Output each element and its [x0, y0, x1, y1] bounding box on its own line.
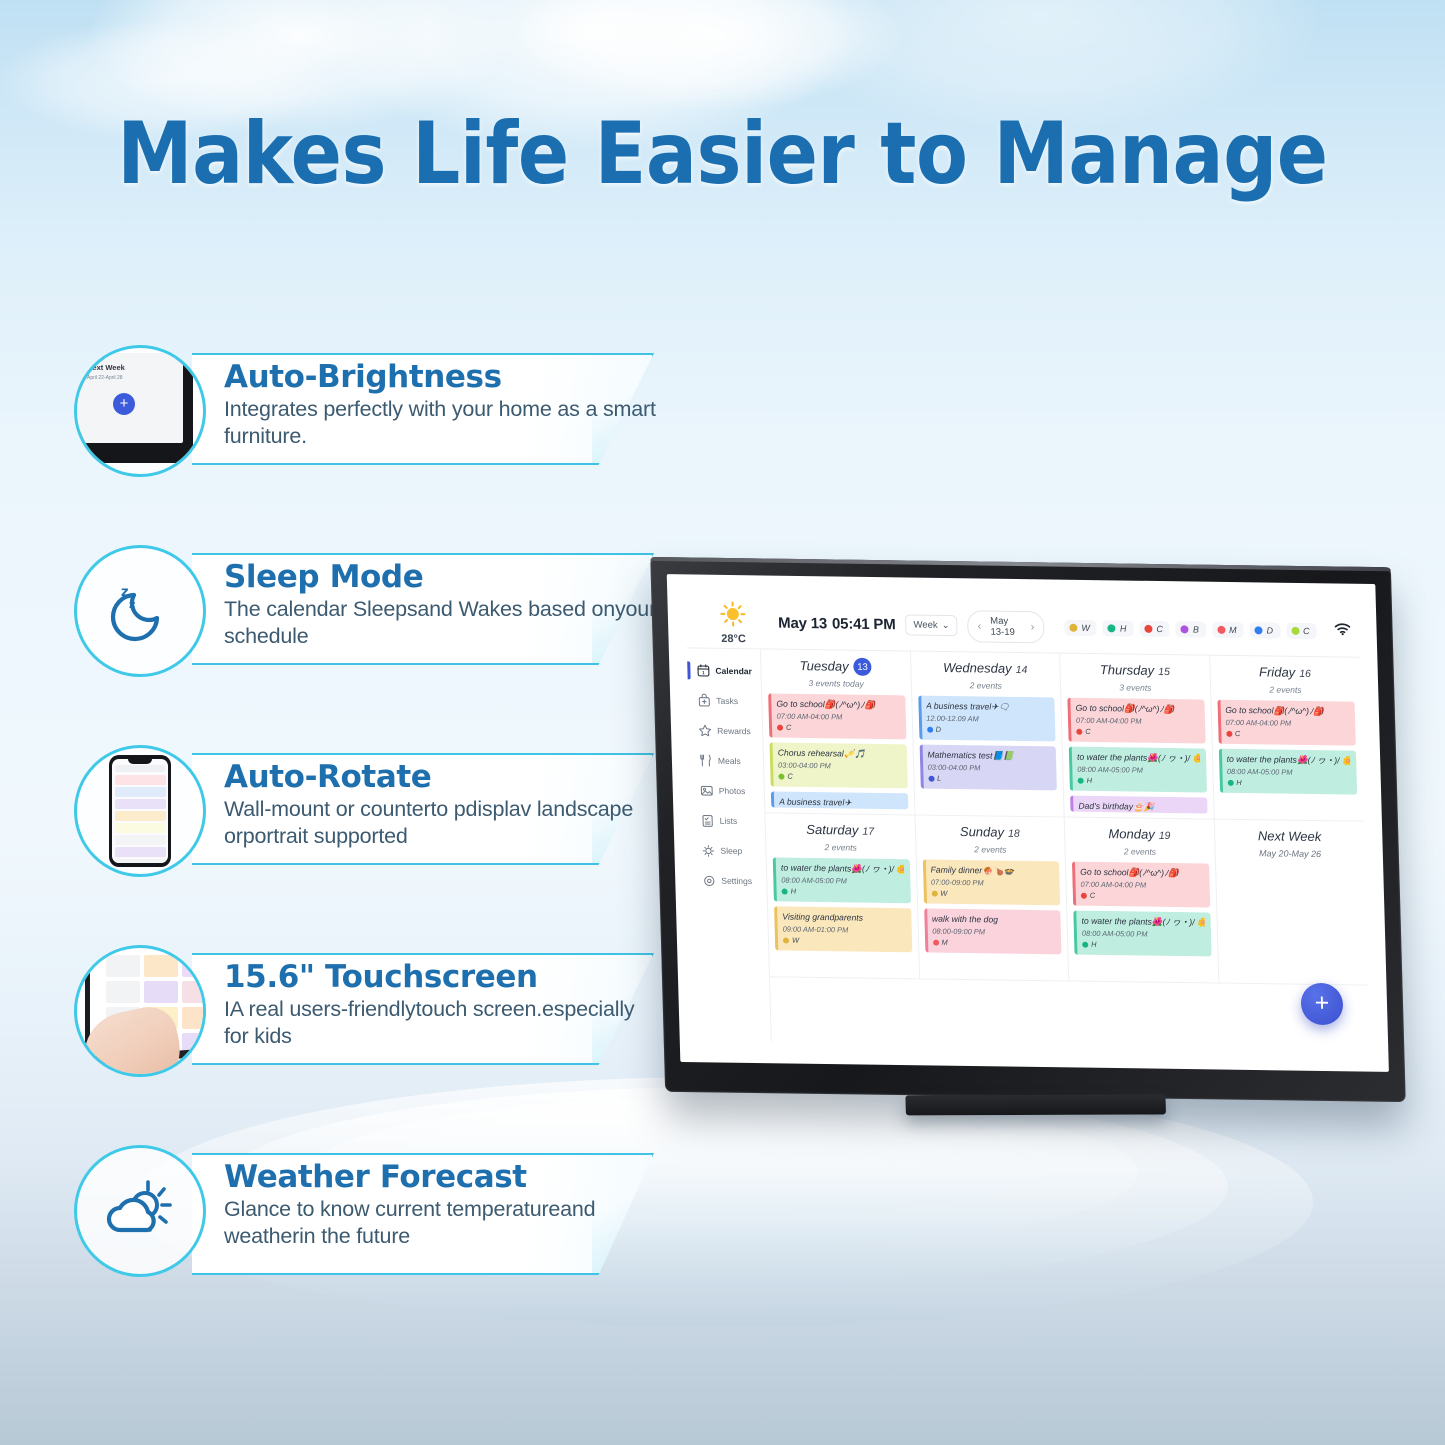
sleep-sun-icon — [701, 843, 715, 857]
calendar-event[interactable]: Go to school🎒(ﾉ^ω^)ﾉ🎒07:00 AM-04:00 PMC — [768, 694, 906, 740]
event-time: 08:00 AM-05:00 PM — [1077, 765, 1200, 776]
feature-auto-rotate: Auto-Rotate Wall-mount or counterto pdis… — [74, 745, 654, 877]
calendar-event[interactable]: Family dinner🍖🍗🍲07:00-09:00 PMW — [922, 860, 1060, 906]
feature-title: Auto-Brightness — [224, 361, 664, 394]
assignee-initial: H — [1091, 940, 1097, 949]
event-assignee: H — [782, 887, 905, 898]
hand-touch-icon — [77, 945, 203, 1077]
calendar-event[interactable]: to water the plants🌺(ﾉ ヮ・)/ 🌼_08:00 AM-0… — [1073, 911, 1211, 957]
assignee-initial: W — [792, 936, 799, 945]
calendar-event[interactable]: Visiting grandparents09:00 AM-01:00 PMW — [774, 907, 912, 953]
chevron-down-icon: ⌄ — [942, 620, 950, 631]
page-title: Makes Life Easier to Manage — [87, 104, 1359, 204]
meals-cutlery-icon — [699, 753, 713, 767]
day-cell[interactable]: Saturday172 eventsto water the plants🌺(ﾉ… — [765, 814, 919, 980]
sidebar-item-tasks[interactable]: Tasks — [688, 686, 762, 715]
thumb-date-range: April 22-April 28 — [87, 375, 123, 381]
assignee-color-dot — [1081, 893, 1087, 899]
feature-description: Glance to know current temperatureand we… — [224, 1196, 664, 1248]
event-title: A business travel✈🗨 — [926, 701, 1049, 714]
feature-title: Auto-Rotate — [224, 761, 664, 794]
member-color-dot — [1217, 625, 1225, 633]
day-cell[interactable]: Wednesday142 eventsA business travel✈🗨12… — [910, 651, 1064, 817]
event-assignee: L — [928, 774, 1051, 785]
member-initial: C — [1156, 623, 1163, 633]
day-number: 16 — [1299, 668, 1311, 680]
sun-cloud-icon — [98, 1172, 182, 1250]
date-time-display: May 1305:41 PM — [778, 615, 896, 634]
tasks-icon — [697, 693, 711, 707]
event-title: A business travel✈ — [779, 797, 902, 810]
monitor-stand — [905, 1094, 1166, 1115]
weather-widget[interactable]: 28°C — [695, 599, 770, 646]
assignee-color-dot — [1227, 779, 1233, 785]
day-event-count: 2 events — [922, 844, 1059, 856]
event-title: Go to school🎒(ﾉ^ω^)ﾉ🎒 — [1075, 703, 1198, 716]
day-subtitle: May 20-May 26 — [1221, 848, 1359, 860]
rewards-star-icon — [698, 723, 712, 737]
member-initial: W — [1081, 622, 1090, 632]
event-time: 07:00 AM-04:00 PM — [777, 712, 900, 723]
event-time: 08:00 AM-05:00 PM — [781, 876, 904, 887]
day-number: 19 — [1159, 830, 1171, 842]
feature-sleep-mode: z z Sleep Mode The calendar Sleepsand Wa… — [74, 545, 654, 677]
event-assignee: C — [1076, 727, 1199, 738]
event-time: 08:00 AM-05:00 PM — [1082, 929, 1205, 940]
day-name: Thursday — [1100, 662, 1155, 678]
member-initial: B — [1193, 624, 1199, 634]
sidebar-item-label: Calendar — [715, 666, 752, 677]
calendar-event[interactable]: to water the plants🌺(ﾉ ヮ・)/ 🌼_08:00 AM-0… — [1218, 749, 1357, 795]
event-time: 03:00-04:00 PM — [928, 763, 1051, 774]
event-title: to water the plants🌺(ﾉ ヮ・)/ 🌼_ — [781, 863, 904, 876]
feature-description: IA real users-friendlytouch screen.espec… — [224, 996, 664, 1048]
day-cell[interactable]: Thursday153 eventsGo to school🎒(ﾉ^ω^)ﾉ🎒0… — [1060, 654, 1214, 820]
smart-calendar-display: 28°C May 1305:41 PM Week ⌄ ‹ May 13-19 ›… — [650, 557, 1406, 1102]
view-select-value: Week — [913, 620, 937, 631]
monitor-screen: 28°C May 1305:41 PM Week ⌄ ‹ May 13-19 ›… — [667, 574, 1389, 1072]
assignee-color-dot — [931, 891, 937, 897]
assignee-initial: D — [936, 725, 942, 734]
day-cell[interactable]: Next WeekMay 20-May 26 — [1214, 820, 1368, 986]
event-time: 08:00 AM-05:00 PM — [1227, 767, 1351, 778]
thumb-next-week-label: Next Week — [87, 363, 125, 372]
event-assignee: C — [1081, 891, 1204, 902]
event-assignee: C — [1226, 729, 1350, 740]
sidebar-item-meals[interactable]: Meals — [690, 746, 764, 775]
sidebar-item-photos[interactable]: Photos — [690, 776, 764, 805]
assignee-initial: W — [940, 889, 947, 898]
calendar-app: 28°C May 1305:41 PM Week ⌄ ‹ May 13-19 ›… — [685, 596, 1370, 1049]
member-color-dot — [1144, 624, 1152, 632]
day-header: Next Week — [1221, 827, 1359, 847]
assignee-color-dot — [783, 937, 789, 943]
sidebar-item-lists[interactable]: Lists — [691, 806, 765, 835]
day-name: Saturday — [806, 822, 859, 838]
app-sidebar: 1CalendarTasksRewardsMealsPhotosListsSle… — [687, 648, 772, 1041]
svg-text:z: z — [121, 585, 129, 600]
day-header: Saturday17 — [772, 821, 909, 841]
assignee-color-dot — [927, 726, 933, 732]
sidebar-item-label: Tasks — [716, 696, 738, 706]
event-title: Dad's birthday🎂🎉 — [1078, 801, 1201, 814]
calendar-event[interactable]: Go to school🎒(ﾉ^ω^)ﾉ🎒07:00 AM-04:00 PMC — [1067, 698, 1205, 744]
cloud-decor — [520, 0, 900, 110]
event-assignee: C — [778, 772, 901, 783]
feature-weather-forecast: Weather Forecast Glance to know current … — [74, 1145, 654, 1293]
event-title: walk with the dog — [932, 914, 1055, 927]
calendar-event[interactable]: walk with the dog08:00-09:00 PMM — [924, 909, 1062, 955]
assignee-color-dot — [1082, 942, 1088, 948]
event-assignee: W — [931, 889, 1054, 900]
feature-icon-badge — [74, 945, 206, 1077]
sidebar-item-label: Sleep — [720, 846, 742, 856]
photos-icon — [700, 783, 714, 797]
feature-icon-badge: z z — [74, 545, 206, 677]
day-number: 15 — [1158, 666, 1170, 678]
event-title: Chorus rehearsal🎺🎵 — [778, 748, 901, 761]
event-time: 08:00-09:00 PM — [932, 927, 1055, 938]
day-cell[interactable]: Tuesday133 events todayGo to school🎒(ﾉ^ω… — [761, 649, 915, 815]
event-title: Visiting grandparents — [782, 912, 905, 925]
feature-title: 15.6" Touchscreen — [224, 961, 664, 994]
thumb-add-button: + — [113, 393, 135, 415]
feature-description: The calendar Sleepsand Wakes based onyou… — [224, 596, 664, 648]
temperature-value: 28°C — [696, 633, 770, 646]
member-color-dot — [1108, 624, 1116, 632]
current-time: 05:41 PM — [832, 615, 896, 633]
member-chip[interactable]: D — [1249, 622, 1280, 638]
assignee-color-dot — [782, 888, 788, 894]
day-name: Tuesday — [799, 658, 848, 674]
member-color-dot — [1069, 623, 1077, 631]
device-screen-icon: Next Week April 22-April 28 + — [77, 345, 203, 477]
event-title: to water the plants🌺(ﾉ ヮ・)/ 🌼_ — [1081, 916, 1204, 929]
day-number: 17 — [862, 826, 874, 838]
sidebar-item-label: Rewards — [717, 726, 751, 736]
day-name: Friday — [1259, 664, 1296, 679]
member-color-dot — [1291, 626, 1299, 634]
assignee-color-dot — [928, 775, 934, 781]
day-header: Wednesday14 — [917, 659, 1054, 679]
day-cell[interactable]: Monday192 eventsGo to school🎒(ﾉ^ω^)ﾉ🎒07:… — [1065, 818, 1219, 984]
event-time: 09:00 AM-01:00 PM — [783, 925, 906, 936]
member-chip[interactable]: B — [1176, 621, 1206, 637]
feature-icon-badge: Next Week April 22-April 28 + — [74, 345, 206, 477]
day-event-count: 2 events — [917, 680, 1054, 692]
day-number-today: 13 — [853, 658, 872, 676]
sidebar-item-label: Lists — [719, 816, 737, 826]
calendar-icon: 1 — [696, 663, 710, 677]
feature-title: Sleep Mode — [224, 561, 664, 594]
moon-sleep-icon: z z — [101, 572, 179, 650]
event-time: 07:00 AM-04:00 PM — [1080, 880, 1203, 891]
member-color-dot — [1181, 625, 1189, 633]
assignee-initial: C — [1090, 891, 1096, 900]
member-chip[interactable]: C — [1139, 620, 1170, 636]
assignee-initial: H — [1236, 778, 1242, 787]
sidebar-item-calendar[interactable]: 1Calendar — [687, 656, 761, 685]
assignee-initial: C — [786, 723, 792, 732]
feature-touchscreen: 15.6" Touchscreen IA real users-friendly… — [74, 945, 654, 1077]
day-name: Sunday — [960, 824, 1005, 840]
event-assignee: C — [777, 723, 900, 734]
assignee-initial: M — [941, 938, 947, 947]
assignee-color-dot — [1078, 777, 1084, 783]
calendar-event[interactable]: A business travel✈🗨12.00-12.09 AMD — [918, 696, 1056, 742]
day-name: Monday — [1108, 826, 1155, 842]
week-grid: Tuesday133 events todayGo to school🎒(ﾉ^ω… — [761, 649, 1369, 986]
event-time: 07:00 AM-04:00 PM — [1225, 718, 1349, 729]
event-time: 03:00-04:00 PM — [778, 761, 901, 772]
event-title: Go to school🎒(ﾉ^ω^)ﾉ🎒 — [776, 699, 899, 712]
calendar-event[interactable]: Mathematics test📘📗03:00-04:00 PML — [919, 745, 1057, 791]
assignee-initial: C — [1085, 727, 1091, 736]
day-cell[interactable]: Sunday182 eventsFamily dinner🍖🍗🍲07:00-09… — [915, 816, 1069, 982]
view-select[interactable]: Week ⌄ — [905, 614, 958, 636]
assignee-initial: H — [1087, 776, 1093, 785]
member-chip[interactable]: W — [1064, 619, 1097, 635]
event-assignee: M — [932, 938, 1055, 949]
chevron-left-icon[interactable]: ‹ — [978, 620, 982, 632]
add-event-button[interactable]: + — [1300, 983, 1343, 1026]
sidebar-item-rewards[interactable]: Rewards — [689, 716, 763, 745]
event-title: Go to school🎒(ﾉ^ω^)ﾉ🎒 — [1225, 705, 1349, 718]
lists-icon — [700, 813, 714, 827]
sidebar-item-sleep[interactable]: Sleep — [692, 836, 766, 865]
calendar-event[interactable]: Go to school🎒(ﾉ^ω^)ﾉ🎒07:00 AM-04:00 PMC — [1072, 862, 1210, 908]
member-color-dot — [1254, 626, 1262, 634]
feature-description: Integrates perfectly with your home as a… — [224, 396, 664, 448]
day-header: Friday16 — [1216, 663, 1354, 683]
assignee-color-dot — [778, 773, 784, 779]
member-chip[interactable]: M — [1212, 621, 1244, 637]
assignee-initial: C — [787, 772, 793, 781]
member-initial: H — [1120, 623, 1127, 633]
event-assignee: H — [1078, 776, 1201, 787]
chevron-right-icon[interactable]: › — [1030, 621, 1034, 633]
day-event-count: 3 events — [1067, 682, 1204, 694]
app-toolbar: 28°C May 1305:41 PM Week ⌄ ‹ May 13-19 ›… — [685, 596, 1359, 657]
assignee-color-dot — [1076, 728, 1082, 734]
event-title: Family dinner🍖🍗🍲 — [930, 865, 1053, 878]
event-title: Mathematics test📘📗 — [927, 750, 1050, 763]
feature-auto-brightness: Next Week April 22-April 28 + Auto-Brigh… — [74, 345, 654, 477]
day-name: Next Week — [1258, 828, 1322, 844]
day-number: 14 — [1015, 664, 1027, 676]
day-event-count: 3 events today — [768, 678, 905, 690]
sun-icon — [695, 601, 770, 633]
day-name: Wednesday — [943, 660, 1012, 676]
day-header: Thursday15 — [1066, 661, 1203, 681]
member-initial: C — [1303, 626, 1310, 636]
feature-title: Weather Forecast — [224, 1161, 664, 1194]
event-assignee: D — [927, 725, 1050, 736]
week-navigator[interactable]: ‹ May 13-19 › — [967, 610, 1045, 643]
svg-text:1: 1 — [702, 670, 705, 675]
event-title: to water the plants🌺(ﾉ ヮ・)/ 🌼_ — [1077, 752, 1200, 765]
day-cell[interactable]: Friday162 eventsGo to school🎒(ﾉ^ω^)ﾉ🎒07:… — [1210, 656, 1364, 822]
calendar-event[interactable]: Chorus rehearsal🎺🎵03:00-04:00 PMC — [769, 743, 907, 789]
member-chip[interactable]: H — [1103, 620, 1134, 636]
assignee-initial: H — [791, 887, 797, 896]
day-header: Sunday18 — [921, 823, 1058, 843]
member-filter-chips: WHCBMDC — [1064, 619, 1317, 639]
calendar-event[interactable]: Dad's birthday🎂🎉 — [1070, 796, 1207, 814]
event-assignee: H — [1082, 940, 1205, 951]
app-body: 1CalendarTasksRewardsMealsPhotosListsSle… — [687, 648, 1370, 1049]
day-header: Monday19 — [1071, 825, 1208, 845]
feature-description: Wall-mount or counterto pdisplav landsca… — [224, 796, 664, 848]
svg-text:z: z — [129, 598, 135, 611]
event-assignee: H — [1227, 778, 1351, 789]
assignee-color-dot — [1226, 731, 1232, 737]
calendar-event[interactable]: A business travel✈ — [771, 792, 908, 810]
member-initial: D — [1266, 625, 1273, 635]
week-range-label: May 13-19 — [990, 615, 1022, 637]
calendar-event[interactable]: to water the plants🌺(ﾉ ヮ・)/ 🌼_08:00 AM-0… — [773, 858, 911, 904]
wifi-icon[interactable] — [1334, 622, 1351, 640]
phone-rotate-icon — [109, 755, 171, 867]
member-chip[interactable]: C — [1286, 622, 1317, 638]
sidebar-item-settings[interactable]: Settings — [693, 866, 767, 895]
calendar-event[interactable]: Go to school🎒(ﾉ^ω^)ﾉ🎒07:00 AM-04:00 PMC — [1217, 700, 1356, 746]
member-initial: M — [1229, 624, 1237, 634]
event-title: to water the plants🌺(ﾉ ヮ・)/ 🌼_ — [1226, 754, 1350, 767]
calendar-event[interactable]: to water the plants🌺(ﾉ ヮ・)/ 🌼_08:00 AM-0… — [1069, 747, 1207, 793]
assignee-initial: C — [1235, 729, 1241, 738]
day-number: 18 — [1008, 828, 1020, 840]
feature-icon-badge — [74, 1145, 206, 1277]
day-header: Tuesday13 — [767, 656, 904, 676]
event-time: 07:00-09:00 PM — [931, 878, 1054, 889]
day-event-count: 2 events — [1071, 846, 1208, 858]
sidebar-item-label: Photos — [719, 786, 746, 796]
assignee-color-dot — [777, 724, 783, 730]
settings-gear-icon — [702, 873, 716, 887]
assignee-color-dot — [933, 939, 939, 945]
event-assignee: W — [783, 936, 906, 947]
current-date: May 13 — [778, 615, 827, 633]
day-event-count: 2 events — [1217, 684, 1355, 696]
sidebar-item-label: Meals — [718, 756, 741, 766]
day-event-count: 2 events — [772, 842, 909, 854]
feature-icon-badge — [74, 745, 206, 877]
event-time: 12.00-12.09 AM — [926, 714, 1049, 725]
sidebar-item-label: Settings — [721, 876, 752, 886]
assignee-initial: L — [937, 774, 941, 783]
event-title: Go to school🎒(ﾉ^ω^)ﾉ🎒 — [1080, 867, 1203, 880]
event-time: 07:00 AM-04:00 PM — [1076, 716, 1199, 727]
